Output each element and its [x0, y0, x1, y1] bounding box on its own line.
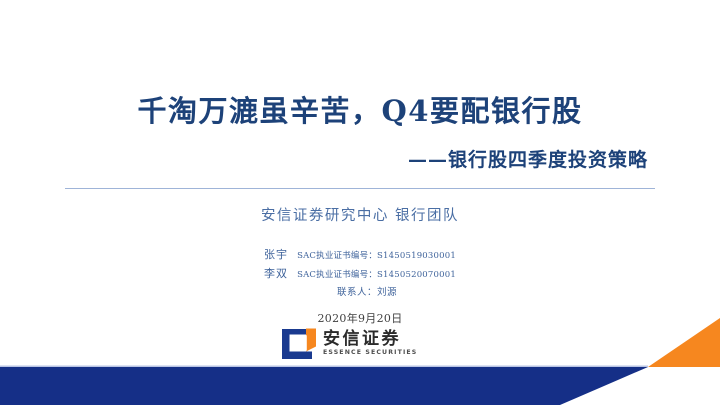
analyst-certificate: SAC执业证书编号：S1450520070001 [297, 270, 456, 280]
logo-text: 安信证券 ESSENCE SECURITIES [323, 330, 417, 357]
presentation-date: 2020年9月20日 [0, 310, 720, 326]
title-slide: 千淘万漉虽辛苦，Q4要配银行股 ——银行股四季度投资策略 安信证券研究中心 银行… [0, 0, 720, 405]
band-highlight-line [0, 366, 648, 368]
organization-line: 安信证券研究中心 银行团队 [0, 204, 720, 225]
navy-band [0, 367, 648, 405]
analyst-name: 李双 [264, 267, 288, 280]
essence-securities-logo-mark [282, 328, 316, 359]
page-title: 千淘万漉虽辛苦，Q4要配银行股 [0, 96, 720, 128]
title-block: 千淘万漉虽辛苦，Q4要配银行股 ——银行股四季度投资策略 [0, 96, 720, 172]
analyst-certificate: SAC执业证书编号：S1450519030001 [297, 251, 456, 261]
contact-person: 联系人：刘源 [0, 284, 720, 301]
logo-orange-accent [306, 328, 316, 351]
title-divider [65, 188, 655, 189]
subtitle-row: ——银行股四季度投资策略 [0, 145, 720, 172]
logo-inner-notch [290, 335, 307, 351]
company-logo: 安信证券 ESSENCE SECURITIES [282, 326, 432, 360]
page-subtitle: ——银行股四季度投资策略 [408, 149, 648, 171]
logo-name-en: ESSENCE SECURITIES [323, 349, 417, 357]
analyst-list: 张宇 SAC执业证书编号：S1450519030001 李双 SAC执业证书编号… [0, 246, 720, 301]
list-item: 张宇 SAC执业证书编号：S1450519030001 [0, 246, 720, 265]
analyst-name: 张宇 [264, 248, 288, 261]
list-item: 李双 SAC执业证书编号：S1450520070001 [0, 265, 720, 284]
logo-name-cn: 安信证券 [323, 330, 417, 349]
